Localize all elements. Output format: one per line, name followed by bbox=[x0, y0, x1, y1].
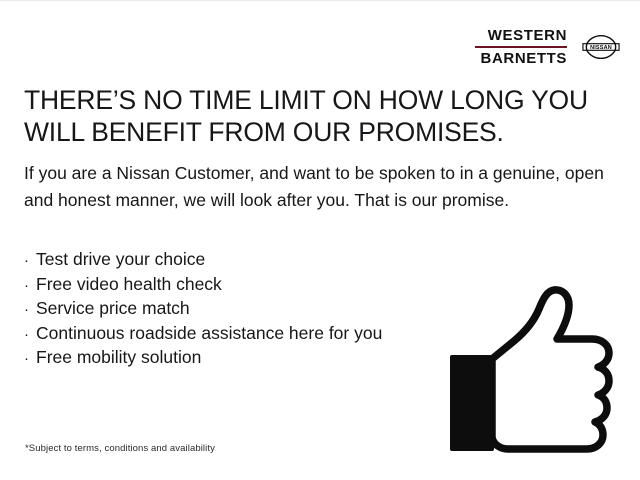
thumbs-up-icon bbox=[436, 277, 632, 463]
list-item-label: Test drive your choice bbox=[36, 248, 205, 272]
wordmark-line-western: WESTERN bbox=[488, 28, 567, 43]
bullet-icon: · bbox=[24, 347, 29, 371]
dealer-wordmark: WESTERN BARNETTS bbox=[475, 28, 567, 66]
bullet-icon: · bbox=[24, 274, 29, 298]
list-item: · Test drive your choice bbox=[24, 248, 464, 273]
bullet-icon: · bbox=[24, 249, 29, 273]
bullet-icon: · bbox=[24, 298, 29, 322]
promise-body-text: If you are a Nissan Customer, and want t… bbox=[24, 160, 612, 214]
nissan-logo-icon: NISSAN bbox=[579, 25, 623, 69]
footnote-disclaimer: *Subject to terms, conditions and availa… bbox=[25, 442, 215, 455]
bullet-icon: · bbox=[24, 323, 29, 347]
list-item-label: Free mobility solution bbox=[36, 346, 201, 370]
brand-header: WESTERN BARNETTS NISSAN bbox=[475, 25, 623, 69]
page-title: THERE’S NO TIME LIMIT ON HOW LONG YOU WI… bbox=[24, 84, 616, 148]
sleeve-cuff bbox=[450, 355, 494, 451]
list-item-label: Continuous roadside assistance here for … bbox=[36, 322, 382, 346]
list-item: · Continuous roadside assistance here fo… bbox=[24, 322, 464, 347]
list-item-label: Free video health check bbox=[36, 273, 222, 297]
wordmark-line-barnetts: BARNETTS bbox=[481, 51, 567, 66]
promise-card: WESTERN BARNETTS NISSAN THERE’S NO TIME … bbox=[0, 0, 640, 480]
benefits-list: · Test drive your choice · Free video he… bbox=[24, 248, 464, 371]
wordmark-divider-rule bbox=[475, 46, 567, 48]
list-item-label: Service price match bbox=[36, 297, 190, 321]
list-item: · Free mobility solution bbox=[24, 346, 464, 371]
list-item: · Service price match bbox=[24, 297, 464, 322]
hand-outline bbox=[492, 290, 609, 449]
list-item: · Free video health check bbox=[24, 273, 464, 298]
nissan-badge-text: NISSAN bbox=[590, 45, 612, 51]
